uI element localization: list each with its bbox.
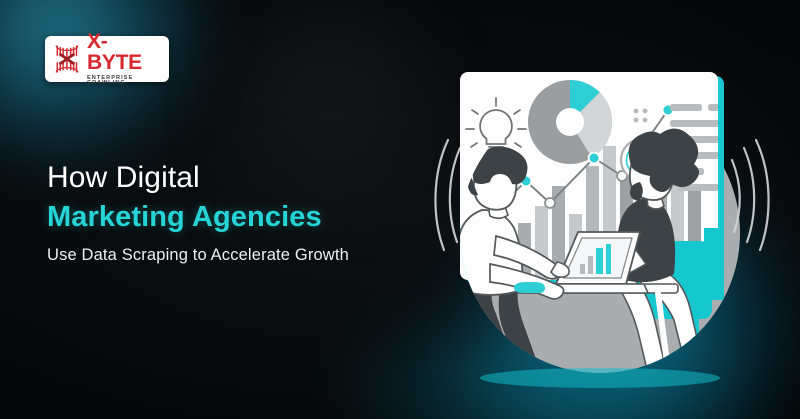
hero-illustration bbox=[404, 48, 800, 398]
headline-line-1: How Digital bbox=[47, 160, 447, 195]
headline-line-3: Use Data Scraping to Accelerate Growth bbox=[47, 246, 447, 265]
line-marker-teal bbox=[589, 153, 600, 164]
brand-logo[interactable]: X-BYTE ENTERPRISE CRAWLING bbox=[45, 36, 169, 82]
illustration-svg bbox=[404, 48, 800, 398]
headline-line-2: Marketing Agencies bbox=[47, 200, 447, 235]
brand-tagline: ENTERPRISE CRAWLING bbox=[87, 76, 161, 87]
floor-glow bbox=[480, 368, 720, 388]
x-byte-dna-mark-icon bbox=[53, 44, 81, 74]
line-marker-open bbox=[545, 198, 555, 208]
brand-name: X-BYTE bbox=[87, 31, 161, 73]
brand-logo-text: X-BYTE ENTERPRISE CRAWLING bbox=[87, 31, 161, 87]
donut-chart bbox=[528, 80, 612, 164]
banner-root: X-BYTE ENTERPRISE CRAWLING How Digital M… bbox=[0, 0, 800, 419]
headline-block: How Digital Marketing Agencies Use Data … bbox=[47, 160, 447, 265]
